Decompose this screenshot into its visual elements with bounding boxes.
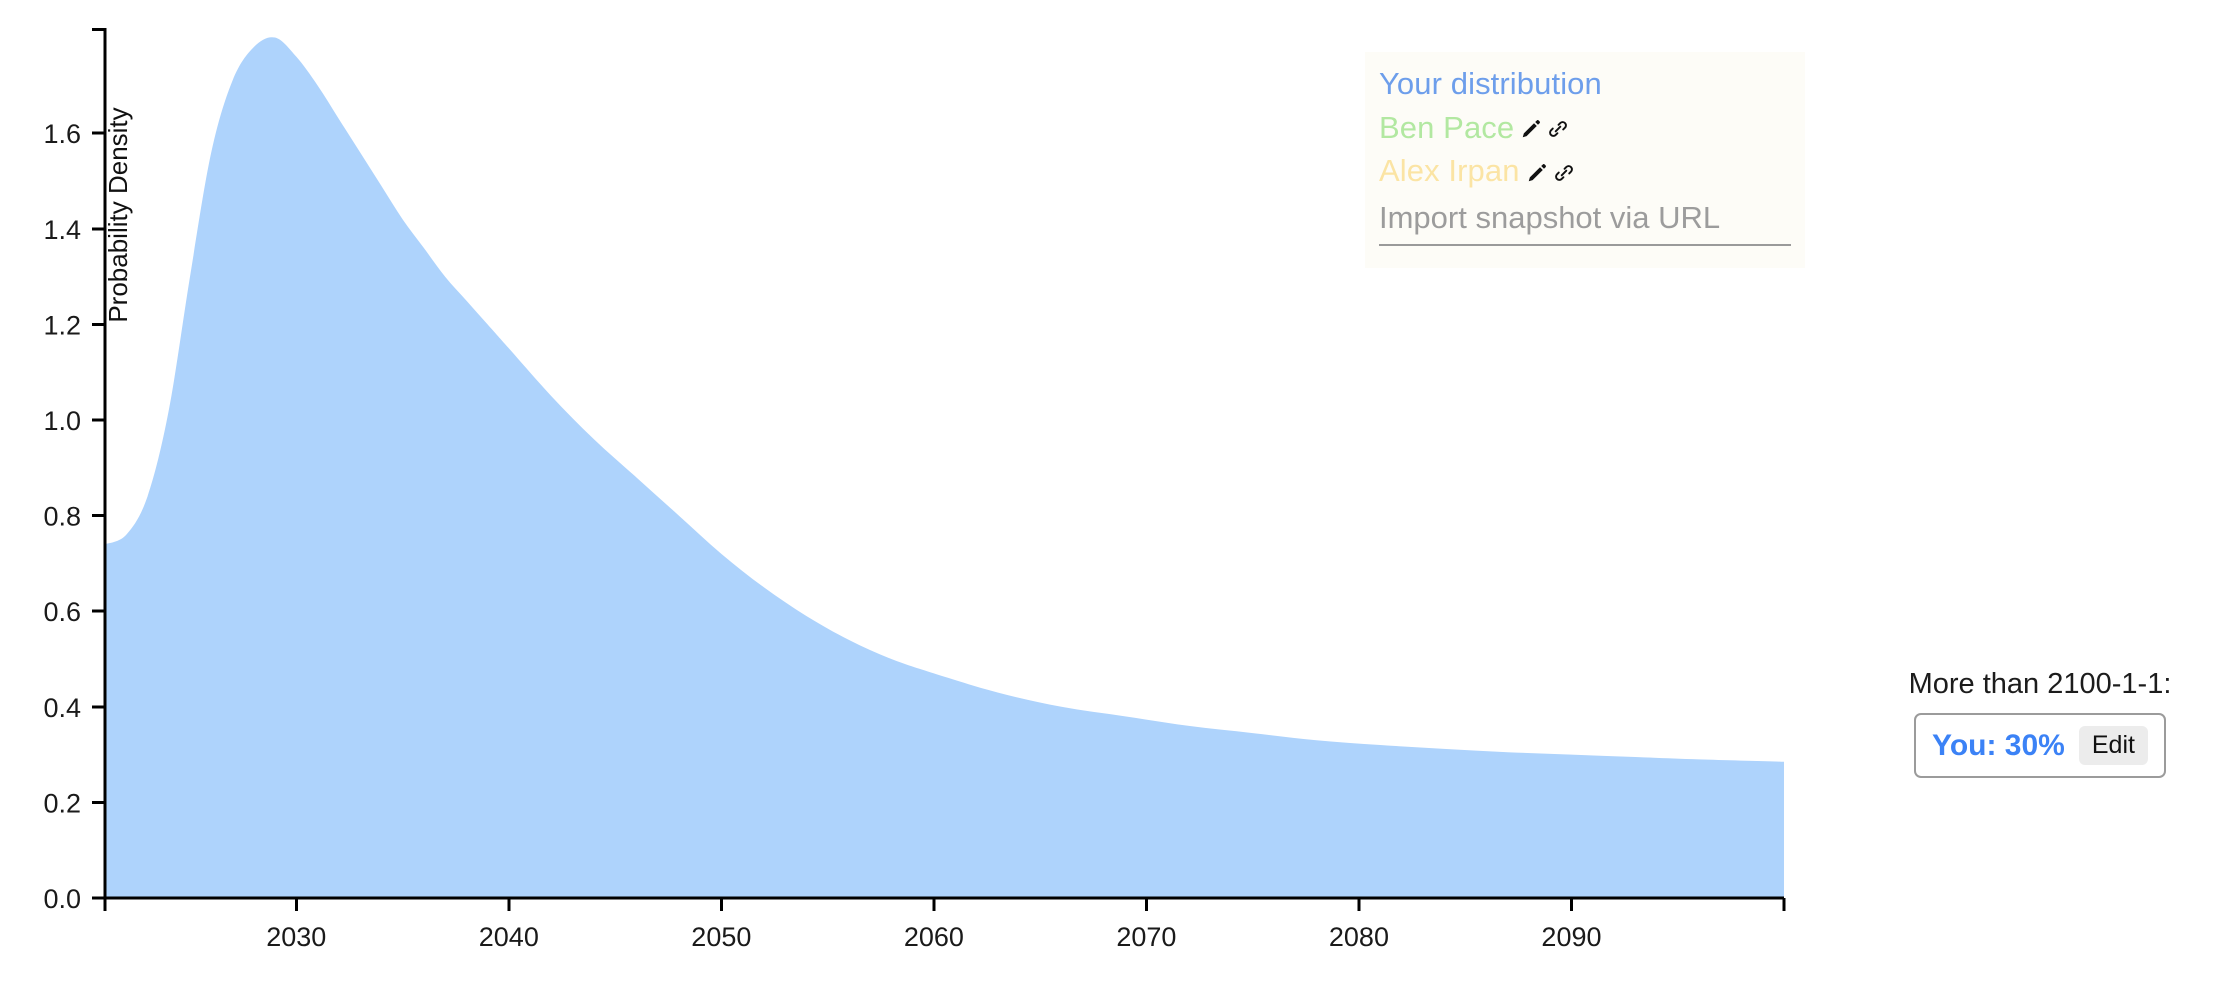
y-tick-label: 1.4 [43,215,81,245]
legend-item-alex-irpan[interactable]: Alex Irpan [1365,149,1805,193]
legend-item-ben-pace[interactable]: Ben Pace [1365,106,1805,150]
summary-caption: More than 2100-1-1: [1880,668,2200,701]
legend-label-alex-irpan: Alex Irpan [1379,153,1520,188]
legend-panel: Your distribution Ben Pace Alex Irpan [1365,52,1805,268]
x-axis-ticks: 2030204020502060207020802090 [105,898,1784,952]
y-tick-label: 0.4 [43,693,81,723]
legend-label-ben-pace: Ben Pace [1379,110,1514,145]
you-probability-value: You: 30% [1932,729,2065,763]
x-tick-label: 2030 [266,922,326,952]
y-tick-label: 1.2 [43,310,81,340]
pencil-icon[interactable] [1520,114,1542,145]
link-icon[interactable] [1547,114,1569,145]
y-tick-label: 0.2 [43,788,81,818]
x-tick-label: 2080 [1329,922,1389,952]
you-probability-box: You: 30% Edit [1914,713,2166,778]
x-tick-label: 2060 [904,922,964,952]
x-tick-label: 2090 [1541,922,1601,952]
y-tick-label: 1.0 [43,406,81,436]
import-snapshot-field[interactable] [1379,199,1791,246]
y-tick-label: 0.6 [43,597,81,627]
tail-probability-summary: More than 2100-1-1: You: 30% Edit [1880,668,2200,778]
edit-button[interactable]: Edit [2079,726,2148,765]
x-tick-label: 2070 [1116,922,1176,952]
import-snapshot-input[interactable] [1379,199,1791,238]
x-tick-label: 2050 [691,922,751,952]
y-axis-title: Probability Density [103,107,133,322]
y-axis-ticks: 0.00.20.40.60.81.01.21.41.6 [43,119,105,914]
x-tick-label: 2040 [479,922,539,952]
link-icon[interactable] [1553,157,1575,188]
legend-item-your-distribution[interactable]: Your distribution [1365,62,1805,106]
y-tick-label: 0.8 [43,502,81,532]
pencil-icon[interactable] [1526,157,1548,188]
legend-actions-ben-pace[interactable] [1520,114,1574,145]
y-tick-label: 1.6 [43,119,81,149]
y-tick-label: 0.0 [43,884,81,914]
legend-label-your-distribution: Your distribution [1379,66,1602,101]
legend-actions-alex-irpan[interactable] [1526,157,1580,188]
